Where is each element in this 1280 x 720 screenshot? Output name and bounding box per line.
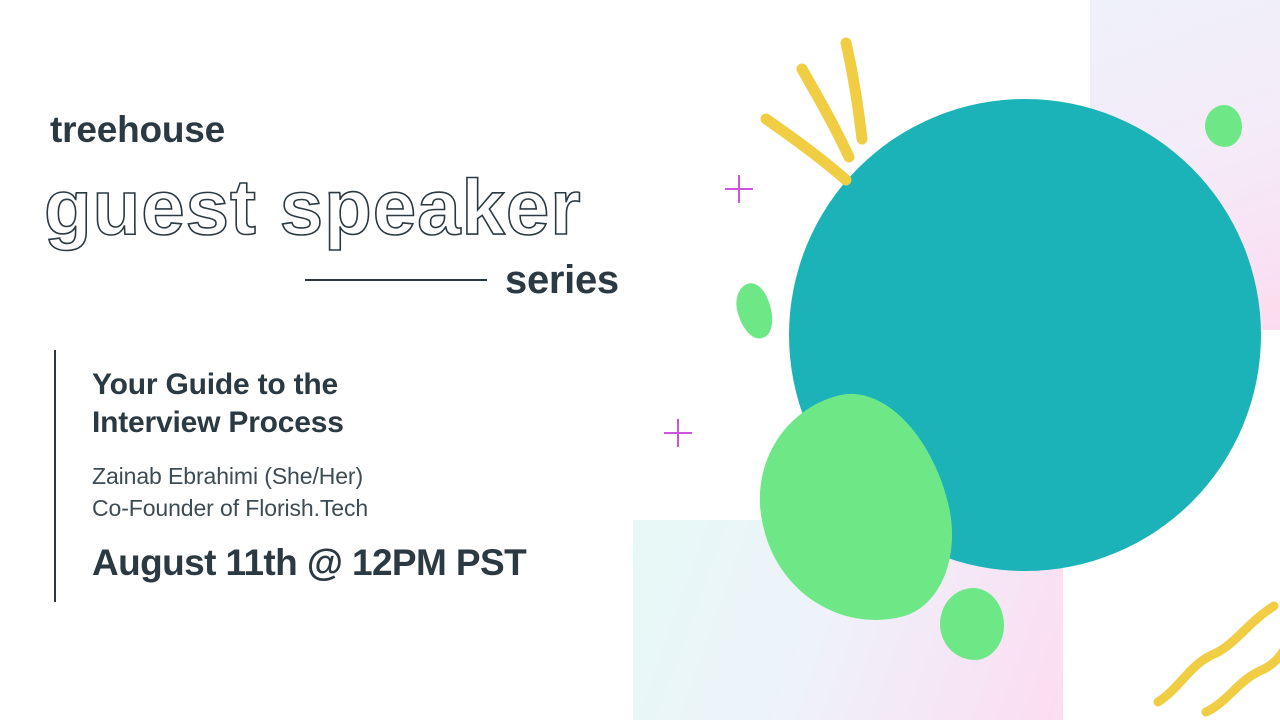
green-blob-top-right xyxy=(1205,105,1242,147)
event-datetime: August 11th @ 12PM PST xyxy=(92,544,652,581)
presentation-slide: treehouse guest speaker series Your Guid… xyxy=(0,0,1280,720)
talk-title-line-2: Interview Process xyxy=(92,404,652,442)
series-divider-rule xyxy=(305,279,487,281)
speaker-name: Zainab Ebrahimi (She/Her) xyxy=(92,461,652,493)
event-info-block: Your Guide to the Interview Process Zain… xyxy=(92,366,652,581)
headline-outline-text: guest speaker xyxy=(44,168,582,246)
series-label: series xyxy=(505,260,619,300)
plus-mark-middle-icon xyxy=(664,419,692,447)
talk-title-line-1: Your Guide to the xyxy=(92,366,652,404)
green-blob-middle xyxy=(940,588,1004,660)
series-row: series xyxy=(305,256,625,304)
green-blob-small-left xyxy=(730,279,779,342)
talk-title: Your Guide to the Interview Process xyxy=(92,366,652,443)
speaker-role: Co-Founder of Florish.Tech xyxy=(92,493,652,525)
brand-wordmark: treehouse xyxy=(50,111,225,148)
info-accent-rule xyxy=(54,350,56,602)
plus-mark-top-icon xyxy=(725,175,753,203)
yellow-squiggles-icon xyxy=(1150,580,1280,720)
